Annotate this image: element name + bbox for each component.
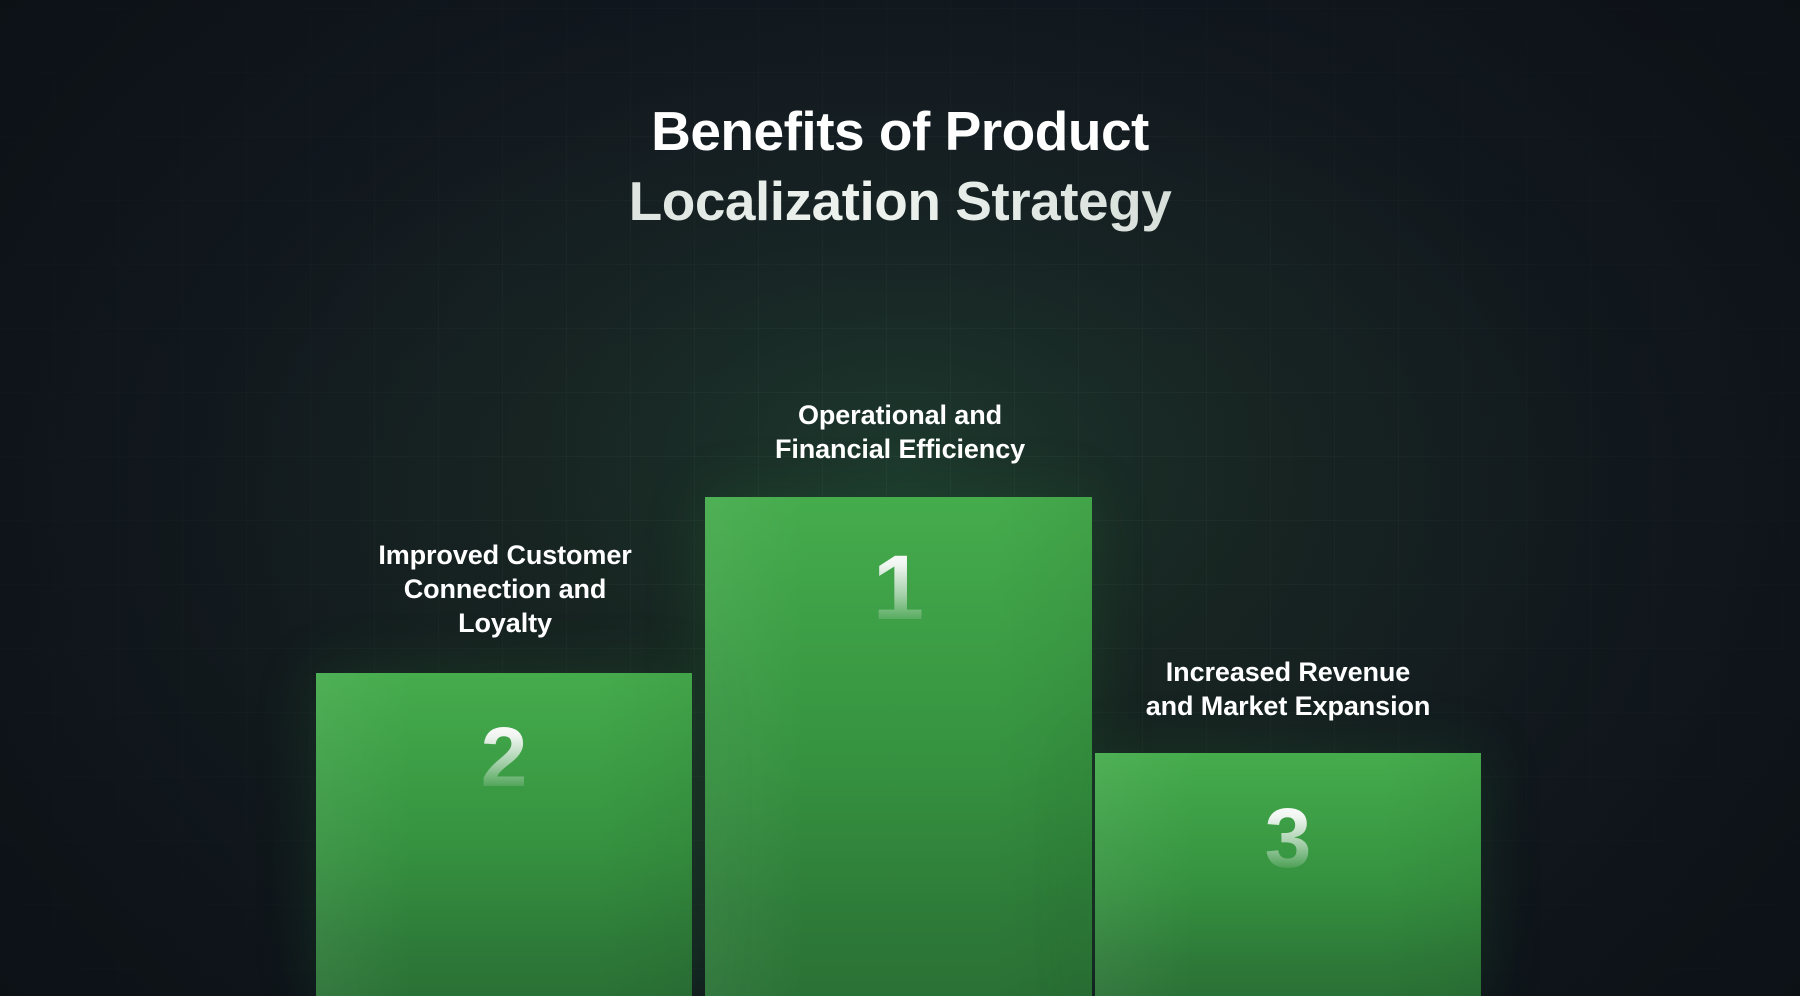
- podium-label-second: Improved Customer Connection and Loyalty: [300, 538, 710, 640]
- podium-label-second-line-2: Connection and: [300, 572, 710, 606]
- podium-label-third-line-2: and Market Expansion: [1078, 689, 1498, 723]
- podium-rank-third: 3: [1095, 796, 1481, 880]
- podium-label-third-line-1: Increased Revenue: [1078, 655, 1498, 689]
- podium-label-first-line-2: Financial Efficiency: [680, 432, 1120, 466]
- podium-label-third: Increased Revenue and Market Expansion: [1078, 655, 1498, 723]
- page-title: Benefits of Product Localization Strateg…: [0, 96, 1800, 237]
- podium-label-second-line-3: Loyalty: [300, 606, 710, 640]
- podium-label-first: Operational and Financial Efficiency: [680, 398, 1120, 466]
- podium-label-first-line-1: Operational and: [680, 398, 1120, 432]
- podium-rank-first: 1: [705, 542, 1092, 634]
- title-line-primary: Benefits of Product: [0, 96, 1800, 166]
- infographic-slide: Benefits of Product Localization Strateg…: [0, 0, 1800, 996]
- podium-rank-second: 2: [316, 715, 692, 799]
- title-line-secondary: Localization Strategy: [0, 166, 1800, 236]
- podium-label-second-line-1: Improved Customer: [300, 538, 710, 572]
